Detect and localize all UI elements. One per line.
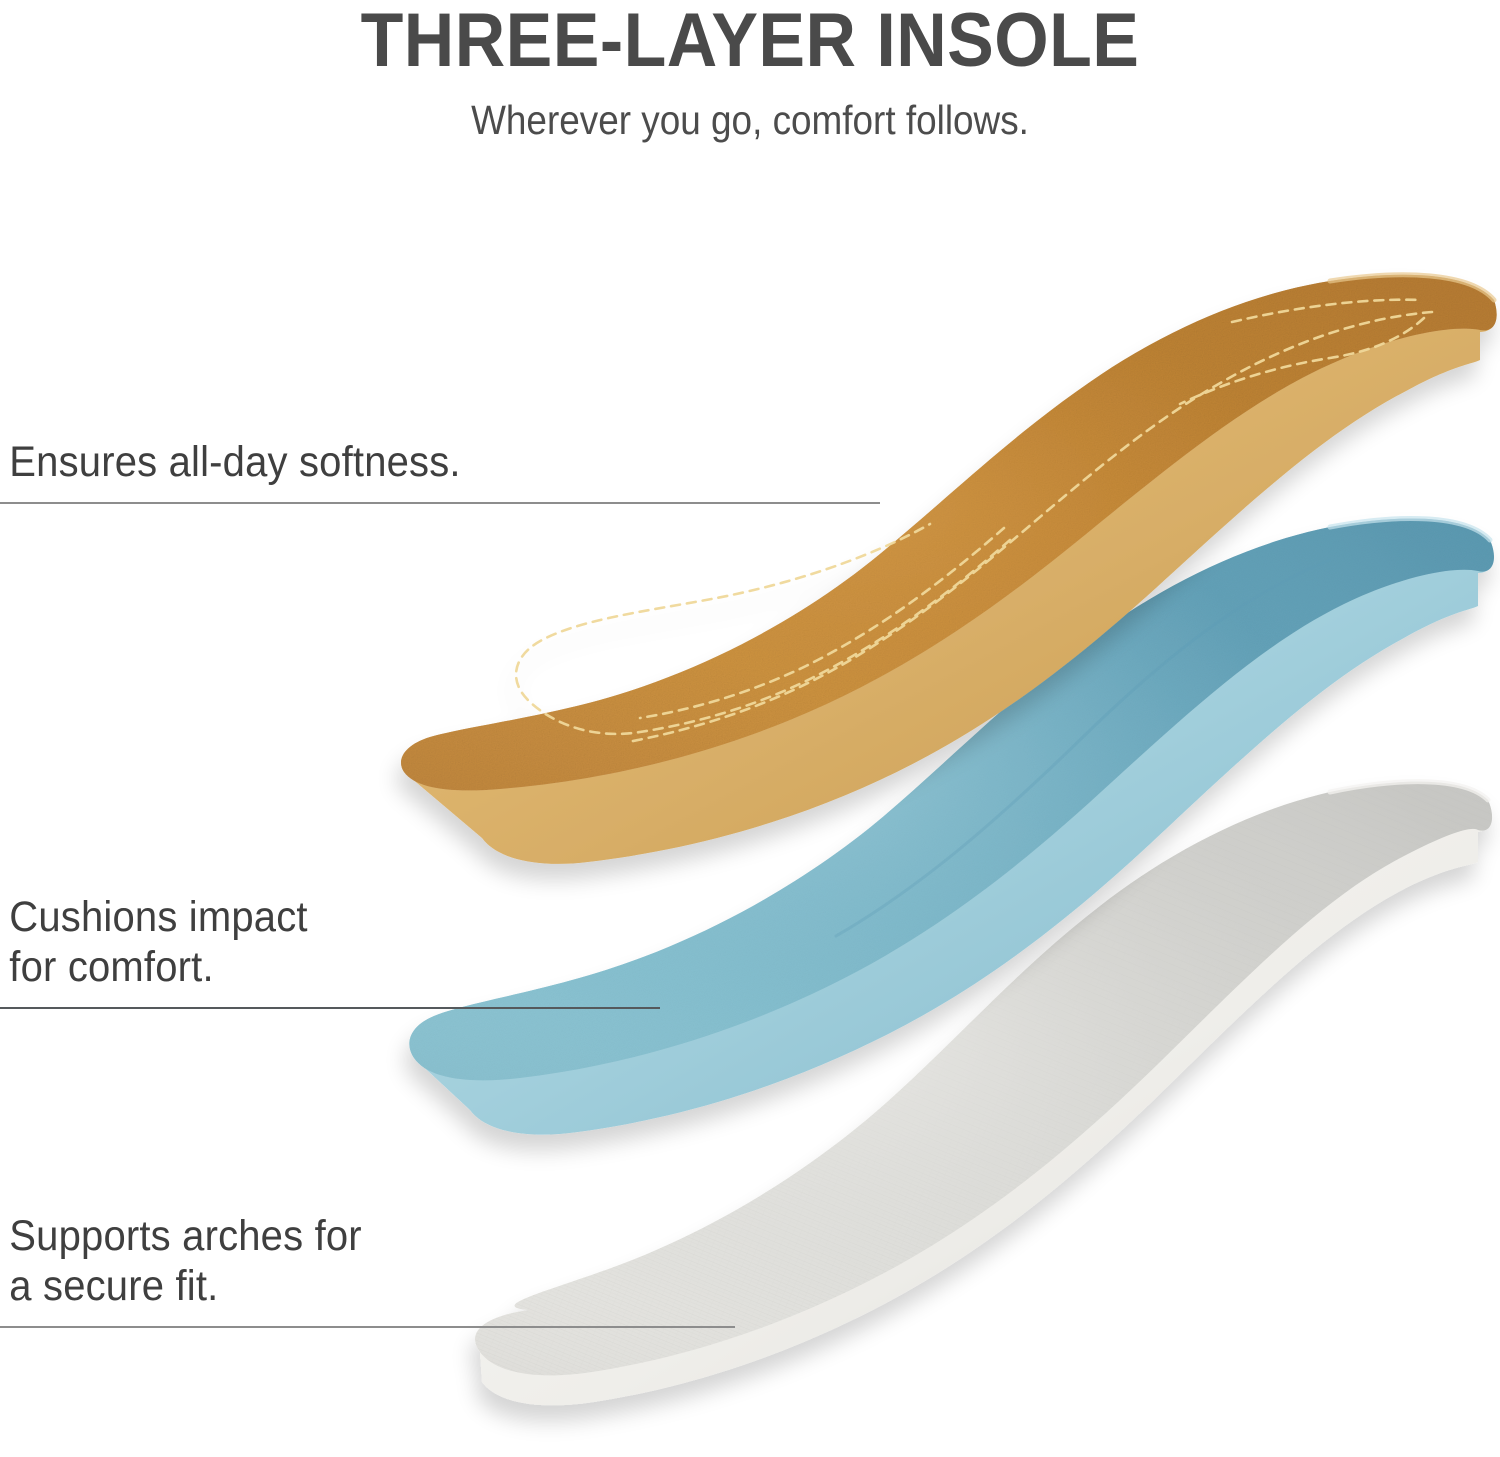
product-infographic: THREE-LAYER INSOLE Wherever you go, comf…: [0, 0, 1500, 1457]
foam-middle-layer: [390, 500, 1500, 1135]
callout-middle-layer-leader-line: [0, 1007, 660, 1009]
leather-layer-edge: [401, 275, 1497, 864]
callout-top-layer: Ensures all-day softness.: [0, 438, 880, 504]
callout-top-layer-text: Ensures all-day softness.: [0, 438, 818, 488]
stitch-heel-top: [1232, 300, 1420, 322]
leather-layer-body: [401, 275, 1497, 791]
page-subtitle: Wherever you go, comfort follows.: [75, 80, 1425, 143]
stitch-arch-line: [640, 528, 1004, 718]
callout-top-layer-leader-line: [0, 502, 880, 504]
base-layer-heel-highlight: [1330, 782, 1488, 800]
callout-bottom-layer-leader-line: [0, 1326, 735, 1328]
stitch-inner-seam: [628, 312, 1432, 742]
page-title: THREE-LAYER INSOLE: [60, 0, 1440, 80]
stitch-forefoot-pad: [516, 524, 1010, 734]
header: THREE-LAYER INSOLE Wherever you go, comf…: [0, 0, 1500, 143]
leather-top-layer: [390, 255, 1500, 864]
foam-layer-edge: [409, 518, 1493, 1134]
callout-middle-layer: Cushions impact for comfort.: [0, 893, 660, 1009]
foam-layer-arch-crease: [836, 560, 1330, 936]
foam-layer-heel-highlight: [1330, 518, 1490, 540]
stitch-heel-arc: [1180, 318, 1424, 404]
callout-bottom-layer: Supports arches for a secure fit.: [0, 1212, 735, 1328]
leather-layer-heel-highlight: [1330, 275, 1494, 300]
callout-middle-layer-text: Cushions impact for comfort.: [0, 893, 614, 993]
callout-bottom-layer-text: Supports arches for a secure fit.: [0, 1212, 684, 1312]
leather-stitching: [516, 300, 1432, 742]
